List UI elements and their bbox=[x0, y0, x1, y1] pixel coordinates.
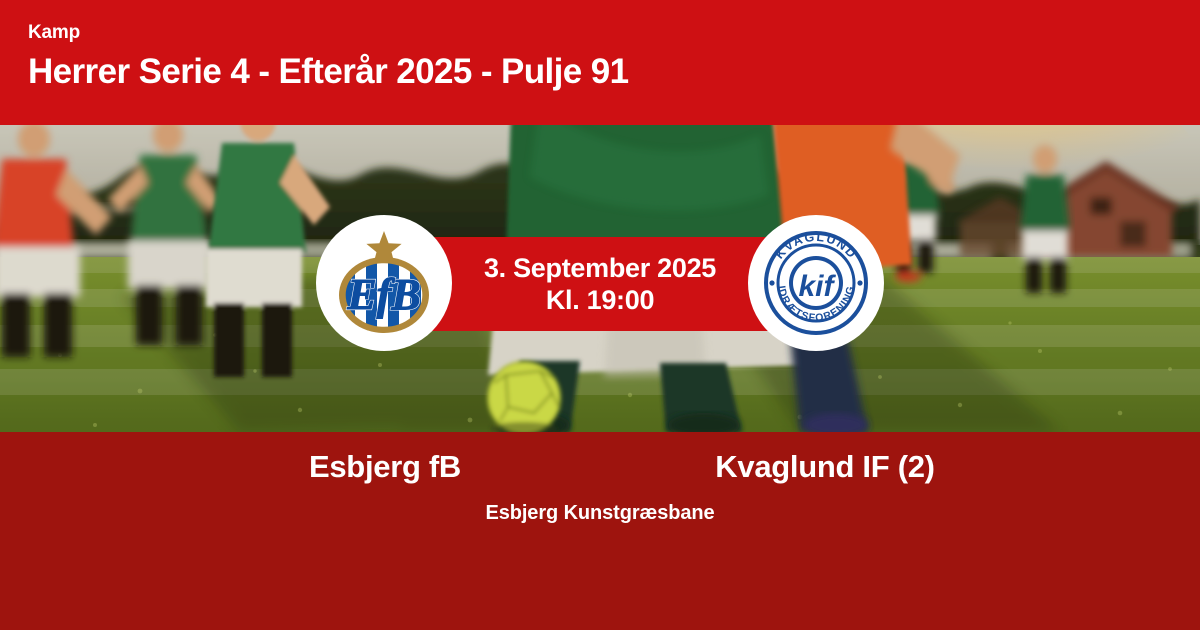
header-kicker: Kamp bbox=[28, 22, 1200, 44]
poster-header: Kamp Herrer Serie 4 - Efterår 2025 - Pul… bbox=[0, 0, 1200, 125]
home-team-logo: EfB EfB bbox=[316, 215, 452, 351]
svg-text:EfB: EfB bbox=[346, 270, 420, 319]
teams-row: Esbjerg fB Kvaglund IF (2) bbox=[0, 447, 1200, 487]
page-title: Herrer Serie 4 - Efterår 2025 - Pulje 91 bbox=[28, 49, 1200, 95]
svg-text:kif: kif bbox=[798, 270, 836, 303]
home-team-name: Esbjerg fB bbox=[165, 447, 605, 487]
match-date: 3. September 2025 bbox=[484, 252, 716, 284]
kvaglund-if-crest-icon: KVAGLUND IDRÆTSFORENING kif bbox=[756, 223, 876, 343]
match-poster: Kamp Herrer Serie 4 - Efterår 2025 - Pul… bbox=[0, 0, 1200, 630]
match-time: Kl. 19:00 bbox=[546, 284, 654, 316]
away-team-name: Kvaglund IF (2) bbox=[605, 447, 1045, 487]
away-team-logo: KVAGLUND IDRÆTSFORENING kif bbox=[748, 215, 884, 351]
esbjerg-fb-crest-icon: EfB EfB bbox=[324, 223, 444, 343]
match-venue: Esbjerg Kunstgræsbane bbox=[0, 502, 1200, 525]
poster-footer-area: Esbjerg fB Kvaglund IF (2) Esbjerg Kunst… bbox=[0, 432, 1200, 630]
